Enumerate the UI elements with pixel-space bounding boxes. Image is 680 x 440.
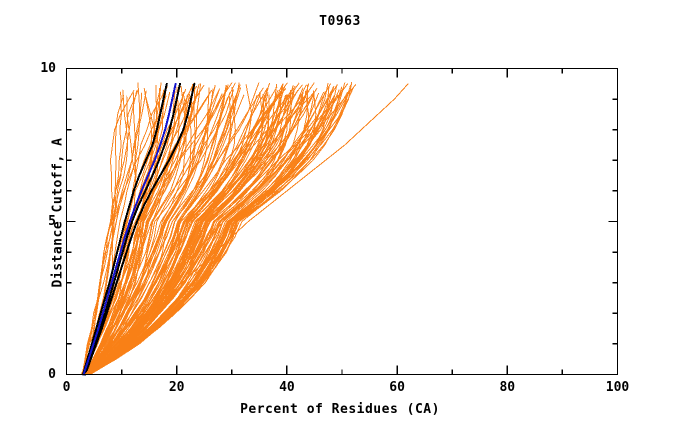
y-axis-label: Distance Cutoff, A (51, 63, 66, 363)
x-tick-label-60: 60 (377, 380, 417, 395)
x-axis-label: Percent of Residues (CA) (0, 402, 680, 417)
x-tick-label-80: 80 (487, 380, 527, 395)
x-tick-label-40: 40 (267, 380, 307, 395)
x-tick-label-0: 0 (47, 380, 87, 395)
y-tick-label-5: 5 (26, 214, 56, 229)
y-tick-label-10: 10 (26, 61, 56, 76)
plot-canvas (0, 0, 680, 440)
x-tick-label-20: 20 (157, 380, 197, 395)
page-title: T0963 (0, 14, 680, 29)
x-tick-label-100: 100 (598, 380, 638, 395)
y-tick-label-0: 0 (26, 367, 56, 382)
plot-figure: T0963 Percent of Residues (CA) Distance … (0, 0, 680, 440)
